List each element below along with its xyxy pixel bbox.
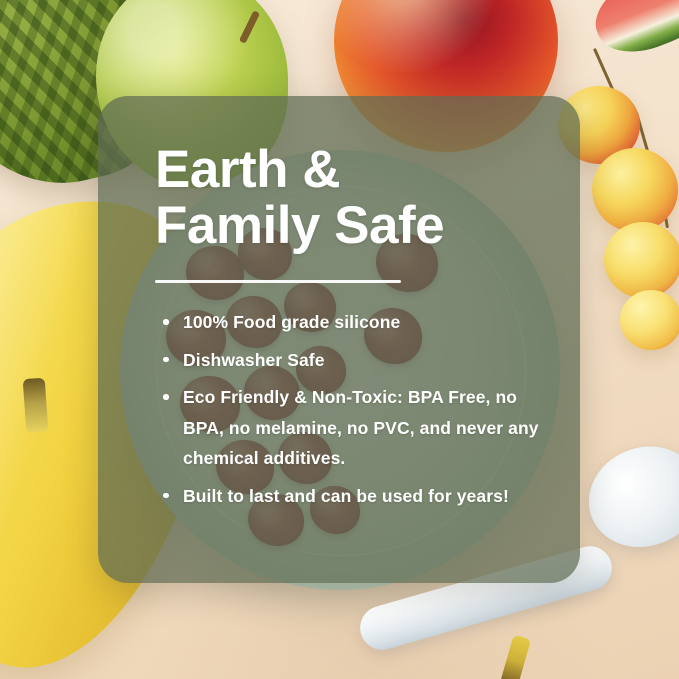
rainier-cherry [620, 290, 679, 350]
title-divider [155, 280, 401, 283]
product-infographic: Earth & Family Safe 100% Food grade sili… [0, 0, 679, 679]
list-item: Eco Friendly & Non-Toxic: BPA Free, no B… [155, 382, 546, 473]
rainier-cherry [592, 148, 678, 232]
content-card: Earth & Family Safe 100% Food grade sili… [98, 96, 580, 583]
list-item: Dishwasher Safe [155, 345, 546, 375]
banana-stem [23, 378, 49, 433]
list-item: 100% Food grade silicone [155, 307, 546, 337]
banana-tip [499, 635, 531, 679]
card-content: Earth & Family Safe 100% Food grade sili… [155, 142, 546, 518]
page-title: Earth & Family Safe [155, 142, 546, 254]
spoon-bowl [576, 433, 679, 561]
list-item: Built to last and can be used for years! [155, 481, 546, 511]
pear-stem [239, 10, 260, 44]
feature-list: 100% Food grade silicone Dishwasher Safe… [155, 307, 546, 511]
rainier-cherry [604, 222, 679, 298]
